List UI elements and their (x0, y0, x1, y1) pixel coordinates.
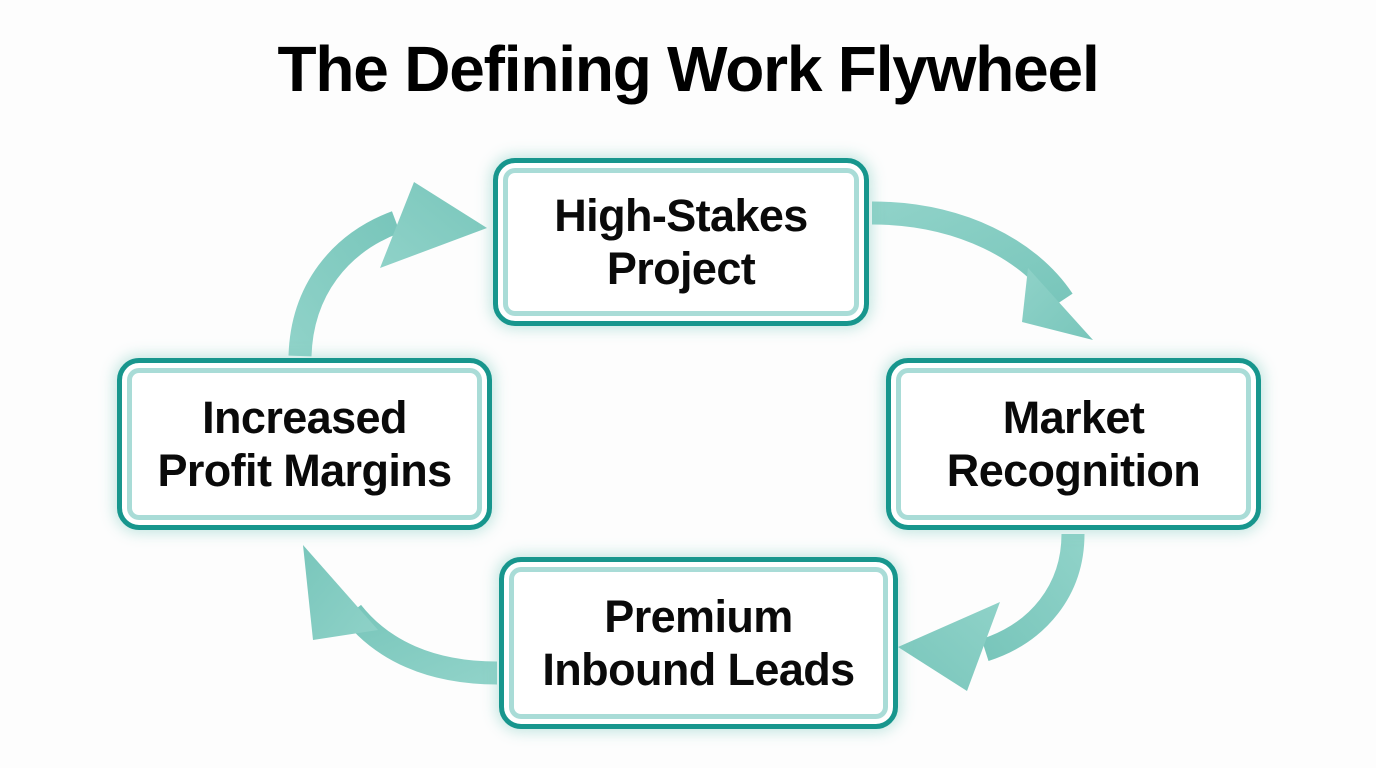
flywheel-diagram-canvas: The Defining Work Flywheel (0, 0, 1376, 768)
node-label: Increased Profit Margins (143, 391, 465, 497)
node-premium-inbound-leads[interactable]: Premium Inbound Leads (499, 557, 898, 729)
node-high-stakes-project[interactable]: High-Stakes Project (493, 158, 869, 326)
node-market-recognition[interactable]: Market Recognition (886, 358, 1261, 530)
node-label: Premium Inbound Leads (528, 590, 868, 696)
arrow-top-left-icon (300, 182, 487, 356)
arrow-bottom-left-icon (303, 545, 497, 673)
node-line-2: Inbound Leads (542, 644, 854, 695)
node-line-2: Profit Margins (157, 445, 451, 496)
node-label: High-Stakes Project (540, 189, 821, 295)
node-line-1: Premium (604, 591, 792, 642)
node-line-2: Recognition (947, 445, 1200, 496)
node-increased-profit-margins[interactable]: Increased Profit Margins (117, 358, 492, 530)
node-line-1: Market (1003, 392, 1144, 443)
node-line-2: Project (607, 243, 755, 294)
arrow-top-right-icon (872, 213, 1093, 340)
node-line-1: Increased (202, 392, 407, 443)
arrow-bottom-right-icon (898, 534, 1073, 691)
node-line-1: High-Stakes (554, 190, 807, 241)
node-label: Market Recognition (933, 391, 1214, 497)
